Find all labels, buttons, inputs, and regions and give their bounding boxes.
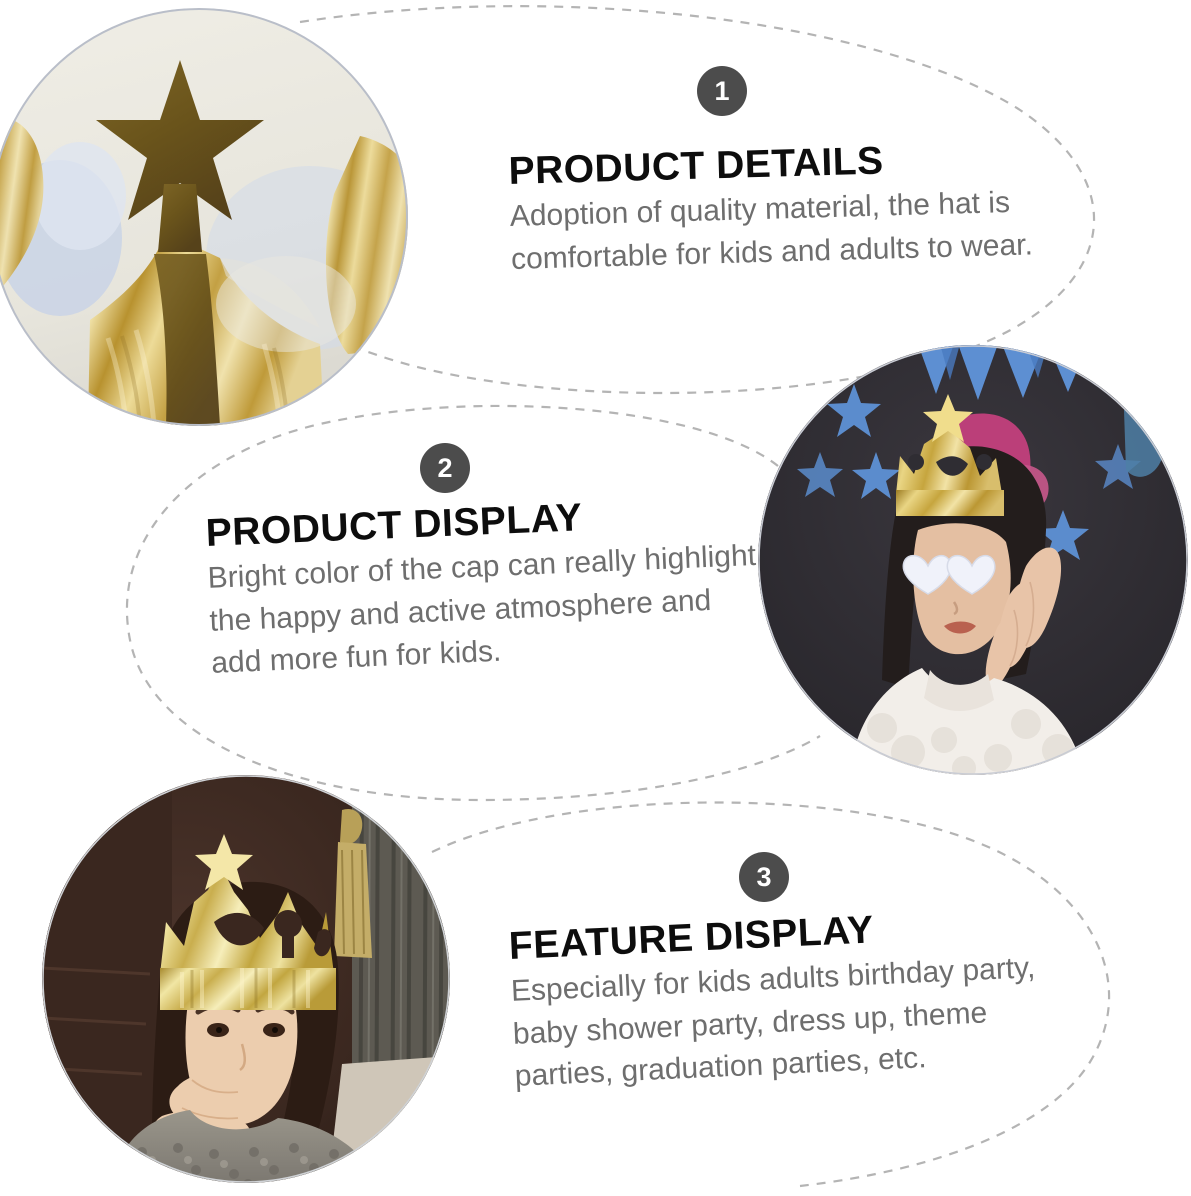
step-number-1: 1 xyxy=(714,78,729,105)
infographic-canvas: 1 2 3 PRODUCT DETAILS Adoption of qualit… xyxy=(0,0,1191,1196)
product-photo-display xyxy=(758,344,1188,776)
section-3-text: FEATURE DISPLAY Especially for kids adul… xyxy=(508,899,1085,1098)
step-badge-1: 1 xyxy=(697,66,747,116)
section-1-body: Adoption of quality material, the hat is… xyxy=(509,181,1056,281)
step-badge-2: 2 xyxy=(420,443,470,493)
section-1-text: PRODUCT DETAILS Adoption of quality mate… xyxy=(508,135,1056,281)
section-2-text: PRODUCT DISPLAY Bright color of the cap … xyxy=(205,489,770,686)
step-number-3: 3 xyxy=(756,864,771,891)
step-badge-3: 3 xyxy=(739,852,789,902)
product-photo-feature xyxy=(42,772,450,1186)
section-2-body: Bright color of the cap can really highl… xyxy=(207,535,770,686)
section-3-body: Especially for kids adults birthday part… xyxy=(510,945,1085,1099)
step-number-2: 2 xyxy=(437,455,452,482)
